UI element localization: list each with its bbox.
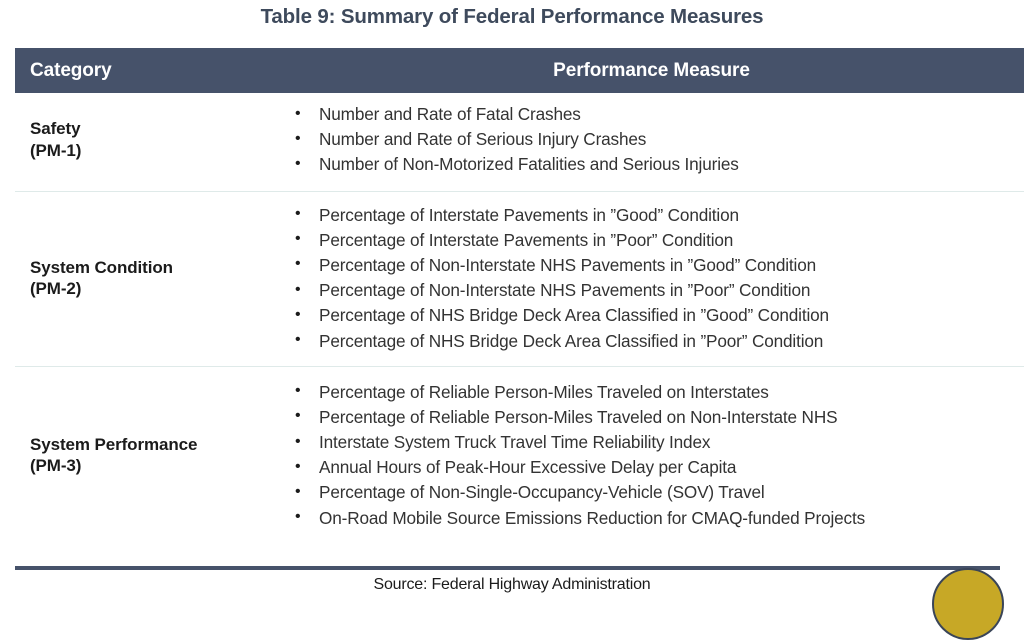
source-note: Source: Federal Highway Administration bbox=[0, 576, 1024, 594]
table-header-row: Category Performance Measure bbox=[15, 48, 1024, 93]
list-item: Percentage of Interstate Pavements in ”G… bbox=[288, 203, 1024, 228]
measure-list: Percentage of Interstate Pavements in ”G… bbox=[288, 203, 1024, 354]
category-name: System Condition bbox=[30, 258, 173, 277]
list-item: Percentage of Interstate Pavements in ”P… bbox=[288, 228, 1024, 253]
measure-cell-safety: Number and Rate of Fatal Crashes Number … bbox=[288, 93, 1024, 191]
list-item: Percentage of Non-Interstate NHS Pavemen… bbox=[288, 253, 1024, 278]
table-body: Safety (PM-1) Number and Rate of Fatal C… bbox=[15, 93, 1024, 543]
category-code: (PM-3) bbox=[30, 455, 282, 477]
list-item: Interstate System Truck Travel Time Reli… bbox=[288, 430, 1024, 455]
category-code: (PM-1) bbox=[30, 140, 282, 162]
agency-seal-icon bbox=[932, 568, 1004, 640]
category-name: System Performance bbox=[30, 435, 197, 454]
page-title: Table 9: Summary of Federal Performance … bbox=[0, 5, 1024, 29]
category-cell-safety: Safety (PM-1) bbox=[15, 93, 288, 191]
column-header-category: Category bbox=[15, 48, 288, 93]
category-code: (PM-2) bbox=[30, 278, 282, 300]
list-item: Annual Hours of Peak-Hour Excessive Dela… bbox=[288, 455, 1024, 480]
column-header-performance-measure: Performance Measure bbox=[288, 48, 1024, 93]
list-item: Number and Rate of Serious Injury Crashe… bbox=[288, 127, 1024, 152]
table-row: System Performance (PM-3) Percentage of … bbox=[15, 366, 1024, 543]
list-item: Percentage of Reliable Person-Miles Trav… bbox=[288, 380, 1024, 405]
measure-cell-system-performance: Percentage of Reliable Person-Miles Trav… bbox=[288, 366, 1024, 543]
category-cell-system-performance: System Performance (PM-3) bbox=[15, 366, 288, 543]
list-item: Percentage of NHS Bridge Deck Area Class… bbox=[288, 329, 1024, 354]
measure-cell-system-condition: Percentage of Interstate Pavements in ”G… bbox=[288, 191, 1024, 366]
footer-divider bbox=[15, 566, 1000, 570]
list-item: Percentage of Reliable Person-Miles Trav… bbox=[288, 405, 1024, 430]
performance-measures-table: Category Performance Measure Safety (PM-… bbox=[15, 48, 1024, 543]
category-name: Safety bbox=[30, 119, 80, 138]
list-item: Percentage of NHS Bridge Deck Area Class… bbox=[288, 303, 1024, 328]
document-page: Table 9: Summary of Federal Performance … bbox=[0, 0, 1024, 602]
measure-list: Number and Rate of Fatal Crashes Number … bbox=[288, 102, 1024, 178]
list-item: Number of Non-Motorized Fatalities and S… bbox=[288, 152, 1024, 177]
measure-list: Percentage of Reliable Person-Miles Trav… bbox=[288, 380, 1024, 531]
table-header: Category Performance Measure bbox=[15, 48, 1024, 93]
category-cell-system-condition: System Condition (PM-2) bbox=[15, 191, 288, 366]
list-item: Percentage of Non-Interstate NHS Pavemen… bbox=[288, 278, 1024, 303]
table-row: Safety (PM-1) Number and Rate of Fatal C… bbox=[15, 93, 1024, 191]
table-row: System Condition (PM-2) Percentage of In… bbox=[15, 191, 1024, 366]
table-container: Category Performance Measure Safety (PM-… bbox=[15, 48, 1000, 543]
list-item: Percentage of Non-Single-Occupancy-Vehic… bbox=[288, 480, 1024, 505]
list-item: Number and Rate of Fatal Crashes bbox=[288, 102, 1024, 127]
list-item: On-Road Mobile Source Emissions Reductio… bbox=[288, 506, 1024, 531]
